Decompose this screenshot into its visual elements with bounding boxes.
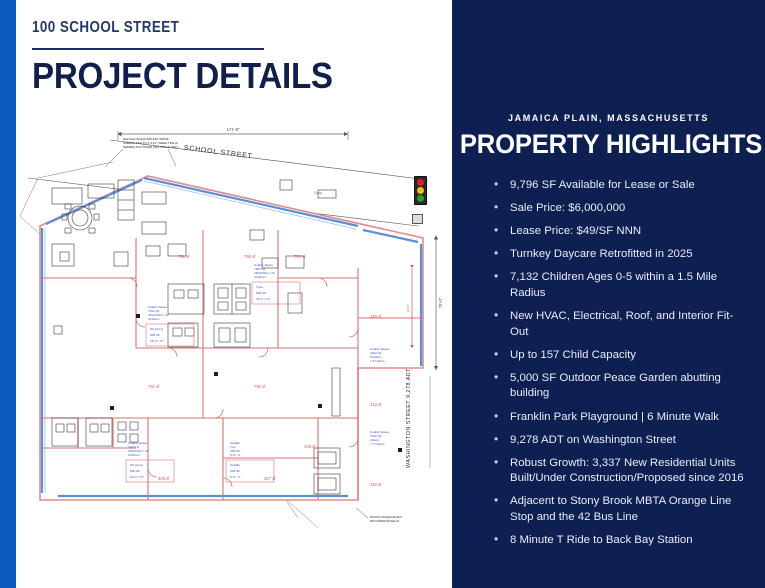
- header-divider: [32, 48, 264, 50]
- svg-text:PS (2yrs): PS (2yrs): [150, 327, 163, 331]
- list-item: Adjacent to Stony Brook MBTA Orange Line…: [493, 494, 745, 525]
- dim-right-label: 70'-0": [438, 297, 443, 308]
- svg-text:PS (2yrs): PS (2yrs): [130, 463, 143, 467]
- svg-text:Children: Children: [128, 453, 140, 457]
- svg-text:Twos: Twos: [256, 285, 264, 289]
- svg-text:428 sf: 428 sf: [158, 476, 170, 481]
- list-item: Franklin Park Playground | 6 Minute Walk: [493, 410, 745, 426]
- floorplan-drawing: 171'-8" SCHOOL STREET CURB CURB DALTILE …: [18, 118, 448, 538]
- svg-text:23'-0": 23'-0": [406, 304, 410, 312]
- list-item: Robust Growth: 3,337 New Residential Uni…: [493, 456, 745, 487]
- small-map-marker-icon: [412, 214, 423, 224]
- left-accent-bar: [0, 0, 16, 588]
- svg-text:108 sf: 108 sf: [304, 444, 316, 449]
- svg-text:Toddler: Toddler: [230, 463, 240, 467]
- svg-text:793 sf: 793 sf: [294, 254, 306, 259]
- svg-text:18'-0' / 4'7: 18'-0' / 4'7: [256, 297, 270, 301]
- svg-text:796 sf: 796 sf: [244, 254, 256, 259]
- svg-text:427 sf: 427 sf: [264, 476, 276, 481]
- svg-text:= 8 Infants: = 8 Infants: [370, 359, 385, 363]
- svg-text:791 sf: 791 sf: [178, 254, 190, 259]
- svg-text:Children: Children: [148, 317, 160, 321]
- list-item: Sale Price: $6,000,000: [493, 201, 745, 217]
- svg-text:806 SF: 806 SF: [150, 333, 160, 337]
- list-item: New HVAC, Electrical, Roof, and Interior…: [493, 309, 745, 340]
- list-item: 5,000 SF Outdoor Peace Garden abutting b…: [493, 371, 745, 402]
- list-item: 9,278 ADT on Washington Street: [493, 433, 745, 449]
- svg-text:= 7 Infants: = 7 Infants: [370, 442, 385, 446]
- slide-header: 100 SCHOOL STREET PROJECT DETAILS: [32, 18, 272, 38]
- note-bottom-1: DALTILE OR EQUIVALENT: [370, 515, 402, 519]
- list-item: 9,796 SF Available for Lease or Sale: [493, 178, 745, 194]
- svg-text:9'-0' / 2': 9'-0' / 2': [230, 453, 241, 457]
- svg-text:340 sf: 340 sf: [370, 314, 382, 319]
- note-top-3: NEEDED IN KITCHEN WET WALLS ONLY: [123, 145, 178, 149]
- traffic-light-icon: [414, 176, 427, 205]
- svg-text:9'-0' / 2': 9'-0' / 2': [230, 475, 241, 479]
- panel-kicker: JAMAICA PLAIN, MASSACHUSETTS: [452, 113, 765, 123]
- street-label-washington: WASHINGTON STREET 9,278 ADT: [406, 368, 412, 468]
- list-item: 7,132 Children Ages 0-5 within a 1.5 Mil…: [493, 270, 745, 301]
- highlights-list: 9,796 SF Available for Lease or Sale Sal…: [493, 178, 745, 556]
- list-item: Lease Price: $49/SF NNN: [493, 224, 745, 240]
- svg-text:400 SF: 400 SF: [230, 469, 240, 473]
- slide-root: 100 SCHOOL STREET PROJECT DETAILS 171'-8…: [0, 0, 765, 588]
- svg-text:806 SF: 806 SF: [256, 291, 266, 295]
- list-item: 8 Minute T Ride to Back Bay Station: [493, 533, 745, 549]
- page-title: PROJECT DETAILS: [32, 54, 333, 98]
- svg-text:310 sf: 310 sf: [370, 482, 382, 487]
- svg-text:791 sf: 791 sf: [254, 384, 266, 389]
- svg-text:800 SF: 800 SF: [130, 469, 140, 473]
- svg-text:26'-0' / 2'7: 26'-0' / 2'7: [150, 339, 164, 343]
- property-highlights-panel: JAMAICA PLAIN, MASSACHUSETTS PROPERTY HI…: [452, 0, 765, 588]
- header-eyebrow: 100 SCHOOL STREET: [32, 18, 234, 38]
- svg-text:26'-0' / 2'7: 26'-0' / 2'7: [130, 475, 144, 479]
- list-item: Up to 157 Child Capacity: [493, 348, 745, 364]
- street-label-school: SCHOOL STREET: [183, 145, 253, 161]
- svg-text:313 sf: 313 sf: [370, 402, 382, 407]
- note-bottom-2: WITH INTERIOR WALLS: [370, 519, 399, 523]
- svg-text:Children: Children: [254, 275, 266, 279]
- dim-top-label: 171'-8": [227, 127, 241, 132]
- list-item: Turnkey Daycare Retrofitted in 2025: [493, 247, 745, 263]
- panel-title: PROPERTY HIGHLIGHTS: [460, 127, 757, 161]
- svg-text:791 sf: 791 sf: [148, 384, 160, 389]
